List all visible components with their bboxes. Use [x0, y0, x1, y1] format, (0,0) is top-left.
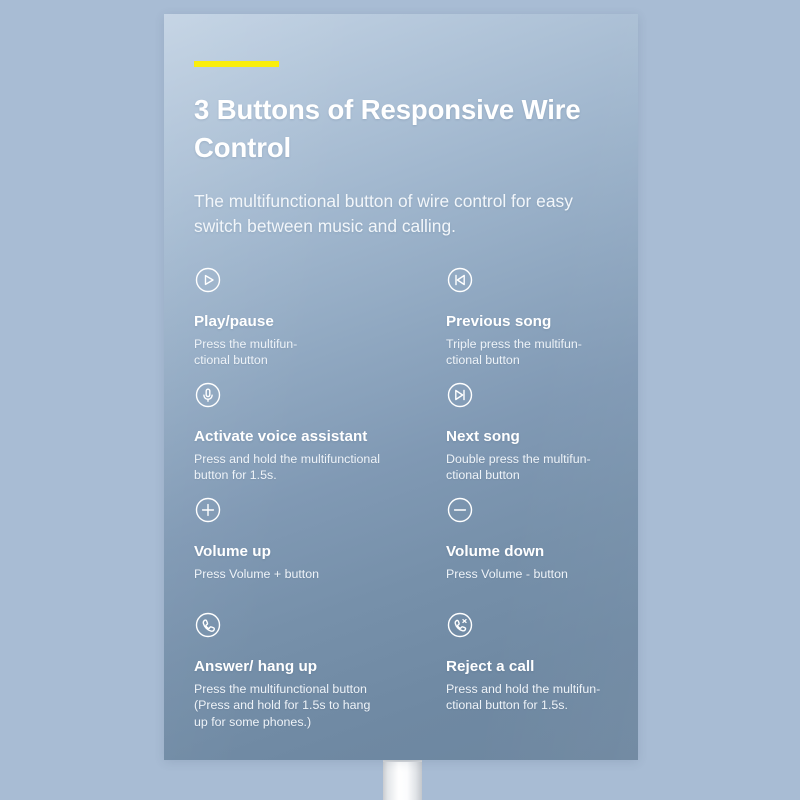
yellow-accent-bar: [194, 61, 279, 67]
feature-item-voice-assistant: Activate voice assistant Press and hold …: [194, 381, 446, 496]
feature-title: Play/pause: [194, 313, 446, 331]
feature-item-play-pause: Play/pause Press the multifun- ctional b…: [194, 266, 446, 381]
feature-title: Volume up: [194, 543, 446, 561]
phone-answer-icon: [194, 611, 222, 639]
feature-description: Double press the multifun- ctional butto…: [446, 451, 636, 484]
feature-description: Press the multifunctional button (Press …: [194, 681, 409, 731]
feature-item-next-song: Next song Double press the multifun- cti…: [446, 381, 638, 496]
previous-song-icon: [446, 266, 474, 294]
next-song-icon: [446, 381, 474, 409]
feature-description: Press Volume - button: [446, 566, 636, 583]
feature-description: Triple press the multifun- ctional butto…: [446, 336, 636, 369]
plus-circle-icon: [194, 496, 222, 524]
feature-item-answer-hang-up: Answer/ hang up Press the multifunctiona…: [194, 611, 446, 736]
minus-circle-icon: [446, 496, 474, 524]
feature-title: Answer/ hang up: [194, 658, 446, 676]
feature-description: Press and hold the multifun- ctional but…: [446, 681, 636, 714]
page-title: 3 Buttons of Responsive Wire Control: [194, 91, 594, 167]
feature-title: Activate voice assistant: [194, 428, 446, 446]
feature-item-volume-up: Volume up Press Volume + button: [194, 496, 446, 611]
feature-item-previous-song: Previous song Triple press the multifun-…: [446, 266, 638, 381]
play-pause-icon: [194, 266, 222, 294]
feature-description: Press Volume + button: [194, 566, 409, 583]
product-feature-card: 3 Buttons of Responsive Wire Control The…: [164, 14, 638, 760]
page-subtitle: The multifunctional button of wire contr…: [194, 189, 618, 240]
phone-reject-icon: [446, 611, 474, 639]
poster-stage: 3 Buttons of Responsive Wire Control The…: [0, 0, 800, 800]
microphone-icon: [194, 381, 222, 409]
feature-title: Volume down: [446, 543, 638, 561]
feature-item-reject-call: Reject a call Press and hold the multifu…: [446, 611, 638, 736]
feature-title: Reject a call: [446, 658, 638, 676]
feature-title: Previous song: [446, 313, 638, 331]
feature-description: Press the multifun- ctional button: [194, 336, 409, 369]
feature-grid: Play/pause Press the multifun- ctional b…: [194, 266, 638, 736]
feature-title: Next song: [446, 428, 638, 446]
feature-description: Press and hold the multifunctional butto…: [194, 451, 409, 484]
feature-item-volume-down: Volume down Press Volume - button: [446, 496, 638, 611]
